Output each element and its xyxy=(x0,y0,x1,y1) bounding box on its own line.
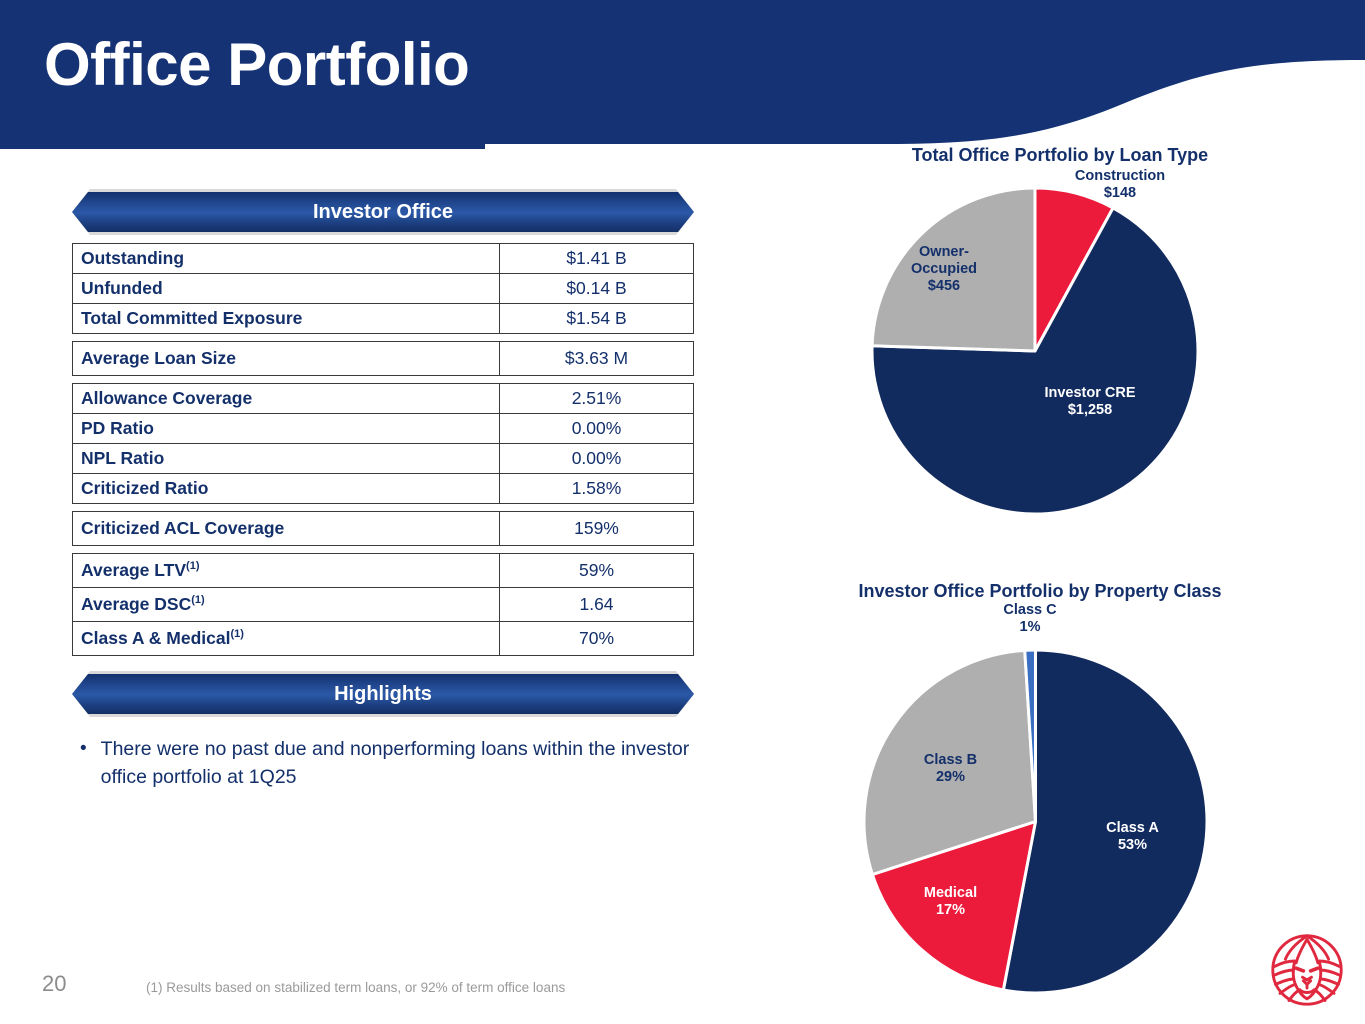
row-label: Criticized ACL Coverage xyxy=(73,512,500,546)
table-row: Average DSC(1) 1.64 xyxy=(73,588,694,622)
metrics-table-body: Outstanding $1.41 B Unfunded $0.14 B Tot… xyxy=(73,244,694,656)
highlights-list: • There were no past due and nonperformi… xyxy=(80,735,690,792)
row-value: $3.63 M xyxy=(500,342,694,376)
row-value: 70% xyxy=(500,622,694,656)
slice-name: Construction xyxy=(1060,168,1180,185)
list-item-text: There were no past due and nonperforming… xyxy=(101,735,690,792)
row-value: 0.00% xyxy=(500,444,694,474)
table-row: Unfunded $0.14 B xyxy=(73,274,694,304)
chart-property-class: Investor Office Portfolio by Property Cl… xyxy=(830,581,1340,602)
slice-value: $456 xyxy=(898,278,990,295)
slice-name: Class C xyxy=(985,602,1075,619)
row-label-text: Allowance Coverage xyxy=(81,388,252,408)
investor-office-banner: Investor Office xyxy=(72,192,694,232)
row-label-text: NPL Ratio xyxy=(81,448,164,468)
row-value: $0.14 B xyxy=(500,274,694,304)
slice-value: 29% xyxy=(908,769,993,786)
row-value: $1.41 B xyxy=(500,244,694,274)
row-value: 0.00% xyxy=(500,414,694,444)
pie-slice-label-class-a: Class A 53% xyxy=(1090,820,1175,854)
table-row: Outstanding $1.41 B xyxy=(73,244,694,274)
row-value: 2.51% xyxy=(500,384,694,414)
row-value: 59% xyxy=(500,554,694,588)
slice-value: 17% xyxy=(908,902,993,919)
slice-value: $148 xyxy=(1060,185,1180,202)
row-label-text: Class A & Medical xyxy=(81,628,230,648)
table-row: Class A & Medical(1) 70% xyxy=(73,622,694,656)
pie-slice-label-class-b: Class B 29% xyxy=(908,752,993,786)
page-number: 20 xyxy=(42,971,66,997)
pie-loan-type-svg xyxy=(870,186,1200,516)
highlights-banner: Highlights xyxy=(72,674,694,714)
table-row-spacer xyxy=(73,376,694,384)
pie-loan-type xyxy=(870,186,1200,516)
slice-name: Class A xyxy=(1090,820,1175,837)
pie-slice-label-class-c: Class C 1% xyxy=(985,602,1075,636)
highlights-banner-label: Highlights xyxy=(72,674,694,714)
pie-slice-label-investor-cre: Investor CRE $1,258 xyxy=(1035,385,1145,419)
row-label-text: Average DSC xyxy=(81,594,191,614)
slice-name-line1: Owner- xyxy=(898,244,990,261)
row-label-text: Unfunded xyxy=(81,278,163,298)
lion-logo-icon xyxy=(1262,925,1352,1015)
chart-property-class-title: Investor Office Portfolio by Property Cl… xyxy=(830,581,1250,602)
slice-value: $1,258 xyxy=(1035,402,1145,419)
table-row-spacer xyxy=(73,504,694,512)
row-label-text: Outstanding xyxy=(81,248,184,268)
row-label: Average DSC(1) xyxy=(73,588,500,622)
row-label-text: Criticized Ratio xyxy=(81,478,208,498)
row-value: 1.58% xyxy=(500,474,694,504)
slice-value: 1% xyxy=(985,619,1075,636)
row-label-sup: (1) xyxy=(230,628,243,640)
row-label: Class A & Medical(1) xyxy=(73,622,500,656)
row-label: Average Loan Size xyxy=(73,342,500,376)
row-label-sup: (1) xyxy=(186,560,199,572)
pie-slice-label-medical: Medical 17% xyxy=(908,885,993,919)
table-row: Average LTV(1) 59% xyxy=(73,554,694,588)
metrics-table: Outstanding $1.41 B Unfunded $0.14 B Tot… xyxy=(72,243,694,656)
table-row: Criticized ACL Coverage 159% xyxy=(73,512,694,546)
row-label-text: PD Ratio xyxy=(81,418,154,438)
investor-office-banner-label: Investor Office xyxy=(72,192,694,232)
table-row: Total Committed Exposure $1.54 B xyxy=(73,304,694,334)
row-label: Outstanding xyxy=(73,244,500,274)
list-item: • There were no past due and nonperformi… xyxy=(80,735,690,792)
row-label: Total Committed Exposure xyxy=(73,304,500,334)
slice-name: Medical xyxy=(908,885,993,902)
pie-slice-label-construction: Construction $148 xyxy=(1060,168,1180,202)
table-row-spacer xyxy=(73,334,694,342)
row-label-text: Total Committed Exposure xyxy=(81,308,302,328)
row-label: Unfunded xyxy=(73,274,500,304)
table-row: Allowance Coverage 2.51% xyxy=(73,384,694,414)
table-row-spacer xyxy=(73,546,694,554)
row-label: Criticized Ratio xyxy=(73,474,500,504)
chart-loan-type-title: Total Office Portfolio by Loan Type xyxy=(845,145,1275,166)
slice-name: Investor CRE xyxy=(1035,385,1145,402)
row-label-text: Criticized ACL Coverage xyxy=(81,518,284,538)
slice-name: Class B xyxy=(908,752,993,769)
slice-name-line2: Occupied xyxy=(898,261,990,278)
table-row: Average Loan Size $3.63 M xyxy=(73,342,694,376)
footnote: (1) Results based on stabilized term loa… xyxy=(146,980,565,995)
row-value: $1.54 B xyxy=(500,304,694,334)
lion-logo xyxy=(1262,925,1352,1015)
pie-slice-label-owner-occupied: Owner- Occupied $456 xyxy=(898,244,990,295)
row-label: PD Ratio xyxy=(73,414,500,444)
row-value: 159% xyxy=(500,512,694,546)
table-row: PD Ratio 0.00% xyxy=(73,414,694,444)
table-row: NPL Ratio 0.00% xyxy=(73,444,694,474)
row-label-sup: (1) xyxy=(191,594,204,606)
row-label: NPL Ratio xyxy=(73,444,500,474)
slice-value: 53% xyxy=(1090,837,1175,854)
page-title: Office Portfolio xyxy=(44,30,469,99)
bullet-icon: • xyxy=(80,735,87,763)
row-label: Average LTV(1) xyxy=(73,554,500,588)
table-row: Criticized Ratio 1.58% xyxy=(73,474,694,504)
row-label-text: Average Loan Size xyxy=(81,348,236,368)
chart-loan-type: Total Office Portfolio by Loan Type xyxy=(845,145,1345,166)
row-label-text: Average LTV xyxy=(81,560,186,580)
row-value: 1.64 xyxy=(500,588,694,622)
row-label: Allowance Coverage xyxy=(73,384,500,414)
